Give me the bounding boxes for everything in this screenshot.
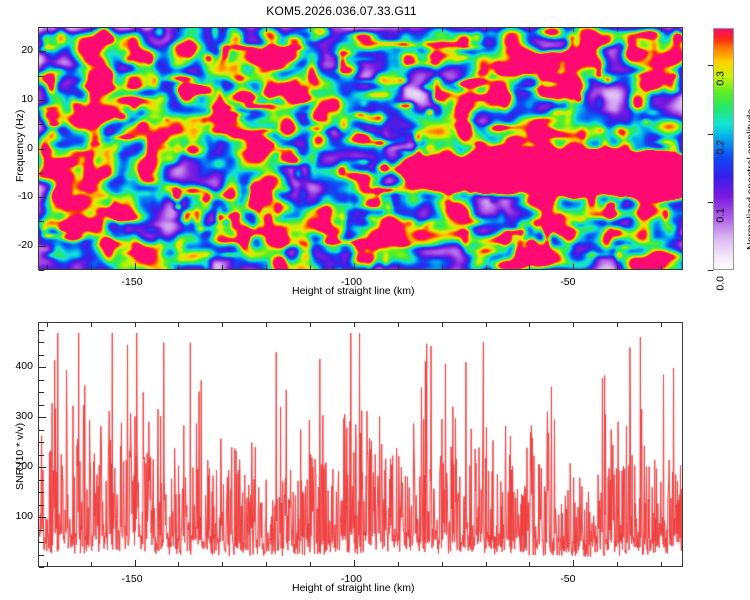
colorbar-tick	[708, 270, 713, 271]
y-ticklabel: 100	[0, 510, 33, 522]
x-minor-tick	[222, 27, 223, 32]
x-minor-tick	[529, 265, 530, 270]
x-minor-tick	[661, 27, 662, 32]
x-major-tick	[573, 263, 574, 270]
y-ticklabel: 300	[0, 410, 33, 422]
x-minor-tick	[47, 27, 48, 32]
colorbar-ticklabel: 0.2	[715, 140, 727, 155]
y-minor-tick	[39, 542, 44, 543]
y-minor-tick	[39, 555, 44, 556]
x-minor-tick	[486, 322, 487, 327]
x-minor-tick	[442, 27, 443, 32]
spectrogram-panel[interactable]	[38, 27, 683, 270]
y-minor-tick	[39, 380, 44, 381]
x-minor-tick	[310, 562, 311, 567]
x-minor-tick	[310, 265, 311, 270]
x-minor-tick	[486, 562, 487, 567]
x-ticklabel: -150	[122, 573, 143, 585]
x-minor-tick	[442, 265, 443, 270]
colorbar-title: Normalized spectral amplitude	[745, 109, 750, 250]
y-major-tick	[39, 246, 46, 247]
x-minor-tick	[47, 265, 48, 270]
x-minor-tick	[222, 265, 223, 270]
x-ticklabel: -50	[560, 276, 575, 288]
x-minor-tick	[135, 322, 136, 327]
y-major-tick	[39, 517, 46, 518]
x-minor-tick	[178, 322, 179, 327]
y-minor-tick	[39, 405, 44, 406]
x-minor-tick	[222, 562, 223, 567]
x-minor-tick	[310, 27, 311, 32]
x-ticklabel: -150	[122, 276, 143, 288]
y-ticklabel: -10	[0, 190, 33, 202]
snr-trace-line	[39, 323, 683, 567]
spectrogram-x-axis-title: Height of straight line (km)	[292, 285, 415, 297]
y-minor-tick	[39, 342, 44, 343]
x-minor-tick	[266, 27, 267, 32]
x-minor-tick	[91, 562, 92, 567]
y-minor-tick	[39, 221, 44, 222]
x-minor-tick	[486, 27, 487, 32]
x-minor-tick	[398, 562, 399, 567]
y-minor-tick	[39, 455, 44, 456]
x-major-tick	[135, 263, 136, 270]
y-major-tick	[39, 149, 46, 150]
x-minor-tick	[573, 322, 574, 327]
x-minor-tick	[617, 265, 618, 270]
x-minor-tick	[178, 265, 179, 270]
y-minor-tick	[39, 567, 44, 568]
y-ticklabel: 20	[0, 44, 33, 56]
snr-panel[interactable]	[38, 322, 683, 567]
x-minor-tick	[529, 27, 530, 32]
y-minor-tick	[39, 492, 44, 493]
x-minor-tick	[661, 562, 662, 567]
x-minor-tick	[91, 265, 92, 270]
x-minor-tick	[661, 265, 662, 270]
y-minor-tick	[39, 392, 44, 393]
figure-title: KOM5.2026.036.07.33.G11	[0, 4, 683, 18]
y-major-tick	[39, 51, 46, 52]
x-minor-tick	[178, 27, 179, 32]
x-minor-tick	[354, 322, 355, 327]
y-minor-tick	[39, 27, 44, 28]
x-major-tick	[573, 560, 574, 567]
x-minor-tick	[47, 322, 48, 327]
y-minor-tick	[39, 355, 44, 356]
x-ticklabel: -50	[560, 573, 575, 585]
y-minor-tick	[39, 124, 44, 125]
x-major-tick	[135, 560, 136, 567]
x-minor-tick	[178, 562, 179, 567]
figure-root: KOM5.2026.036.07.33.G11 -150-100-50 -20-…	[0, 0, 750, 600]
x-minor-tick	[222, 322, 223, 327]
x-minor-tick	[398, 322, 399, 327]
x-minor-tick	[573, 27, 574, 32]
y-minor-tick	[39, 505, 44, 506]
y-minor-tick	[39, 430, 44, 431]
y-major-tick	[39, 467, 46, 468]
spectrogram-y-axis-title: Frequency (Hz)	[14, 110, 26, 182]
y-minor-tick	[39, 76, 44, 77]
x-minor-tick	[529, 562, 530, 567]
y-minor-tick	[39, 442, 44, 443]
x-minor-tick	[354, 27, 355, 32]
y-ticklabel: -20	[0, 239, 33, 251]
y-major-tick	[39, 417, 46, 418]
x-minor-tick	[135, 27, 136, 32]
x-minor-tick	[266, 562, 267, 567]
snr-y-axis-title: SNR (10 * v/v)	[14, 423, 26, 490]
x-minor-tick	[529, 322, 530, 327]
colorbar-tick	[708, 65, 713, 66]
x-minor-tick	[47, 562, 48, 567]
x-minor-tick	[661, 322, 662, 327]
x-major-tick	[354, 560, 355, 567]
spectrogram-image	[39, 28, 683, 270]
y-major-tick	[39, 367, 46, 368]
colorbar-ticklabel: 0.3	[715, 71, 727, 86]
y-minor-tick	[39, 530, 44, 531]
colorbar-tick	[708, 202, 713, 203]
y-minor-tick	[39, 173, 44, 174]
x-major-tick	[354, 263, 355, 270]
x-minor-tick	[617, 562, 618, 567]
colorbar-tick	[708, 134, 713, 135]
x-minor-tick	[398, 265, 399, 270]
x-minor-tick	[617, 322, 618, 327]
y-ticklabel: 400	[0, 360, 33, 372]
y-minor-tick	[39, 480, 44, 481]
y-minor-tick	[39, 330, 44, 331]
y-major-tick	[39, 197, 46, 198]
x-minor-tick	[442, 322, 443, 327]
snr-x-axis-title: Height of straight line (km)	[292, 582, 415, 594]
x-minor-tick	[442, 562, 443, 567]
x-minor-tick	[617, 27, 618, 32]
colorbar-ticklabel: 0.1	[715, 208, 727, 223]
y-ticklabel: 10	[0, 93, 33, 105]
y-major-tick	[39, 100, 46, 101]
y-minor-tick	[39, 270, 44, 271]
x-minor-tick	[310, 322, 311, 327]
x-minor-tick	[91, 322, 92, 327]
x-minor-tick	[266, 322, 267, 327]
x-minor-tick	[91, 27, 92, 32]
x-minor-tick	[486, 265, 487, 270]
colorbar-ticklabel: 0.0	[715, 276, 727, 291]
x-minor-tick	[398, 27, 399, 32]
x-minor-tick	[266, 265, 267, 270]
